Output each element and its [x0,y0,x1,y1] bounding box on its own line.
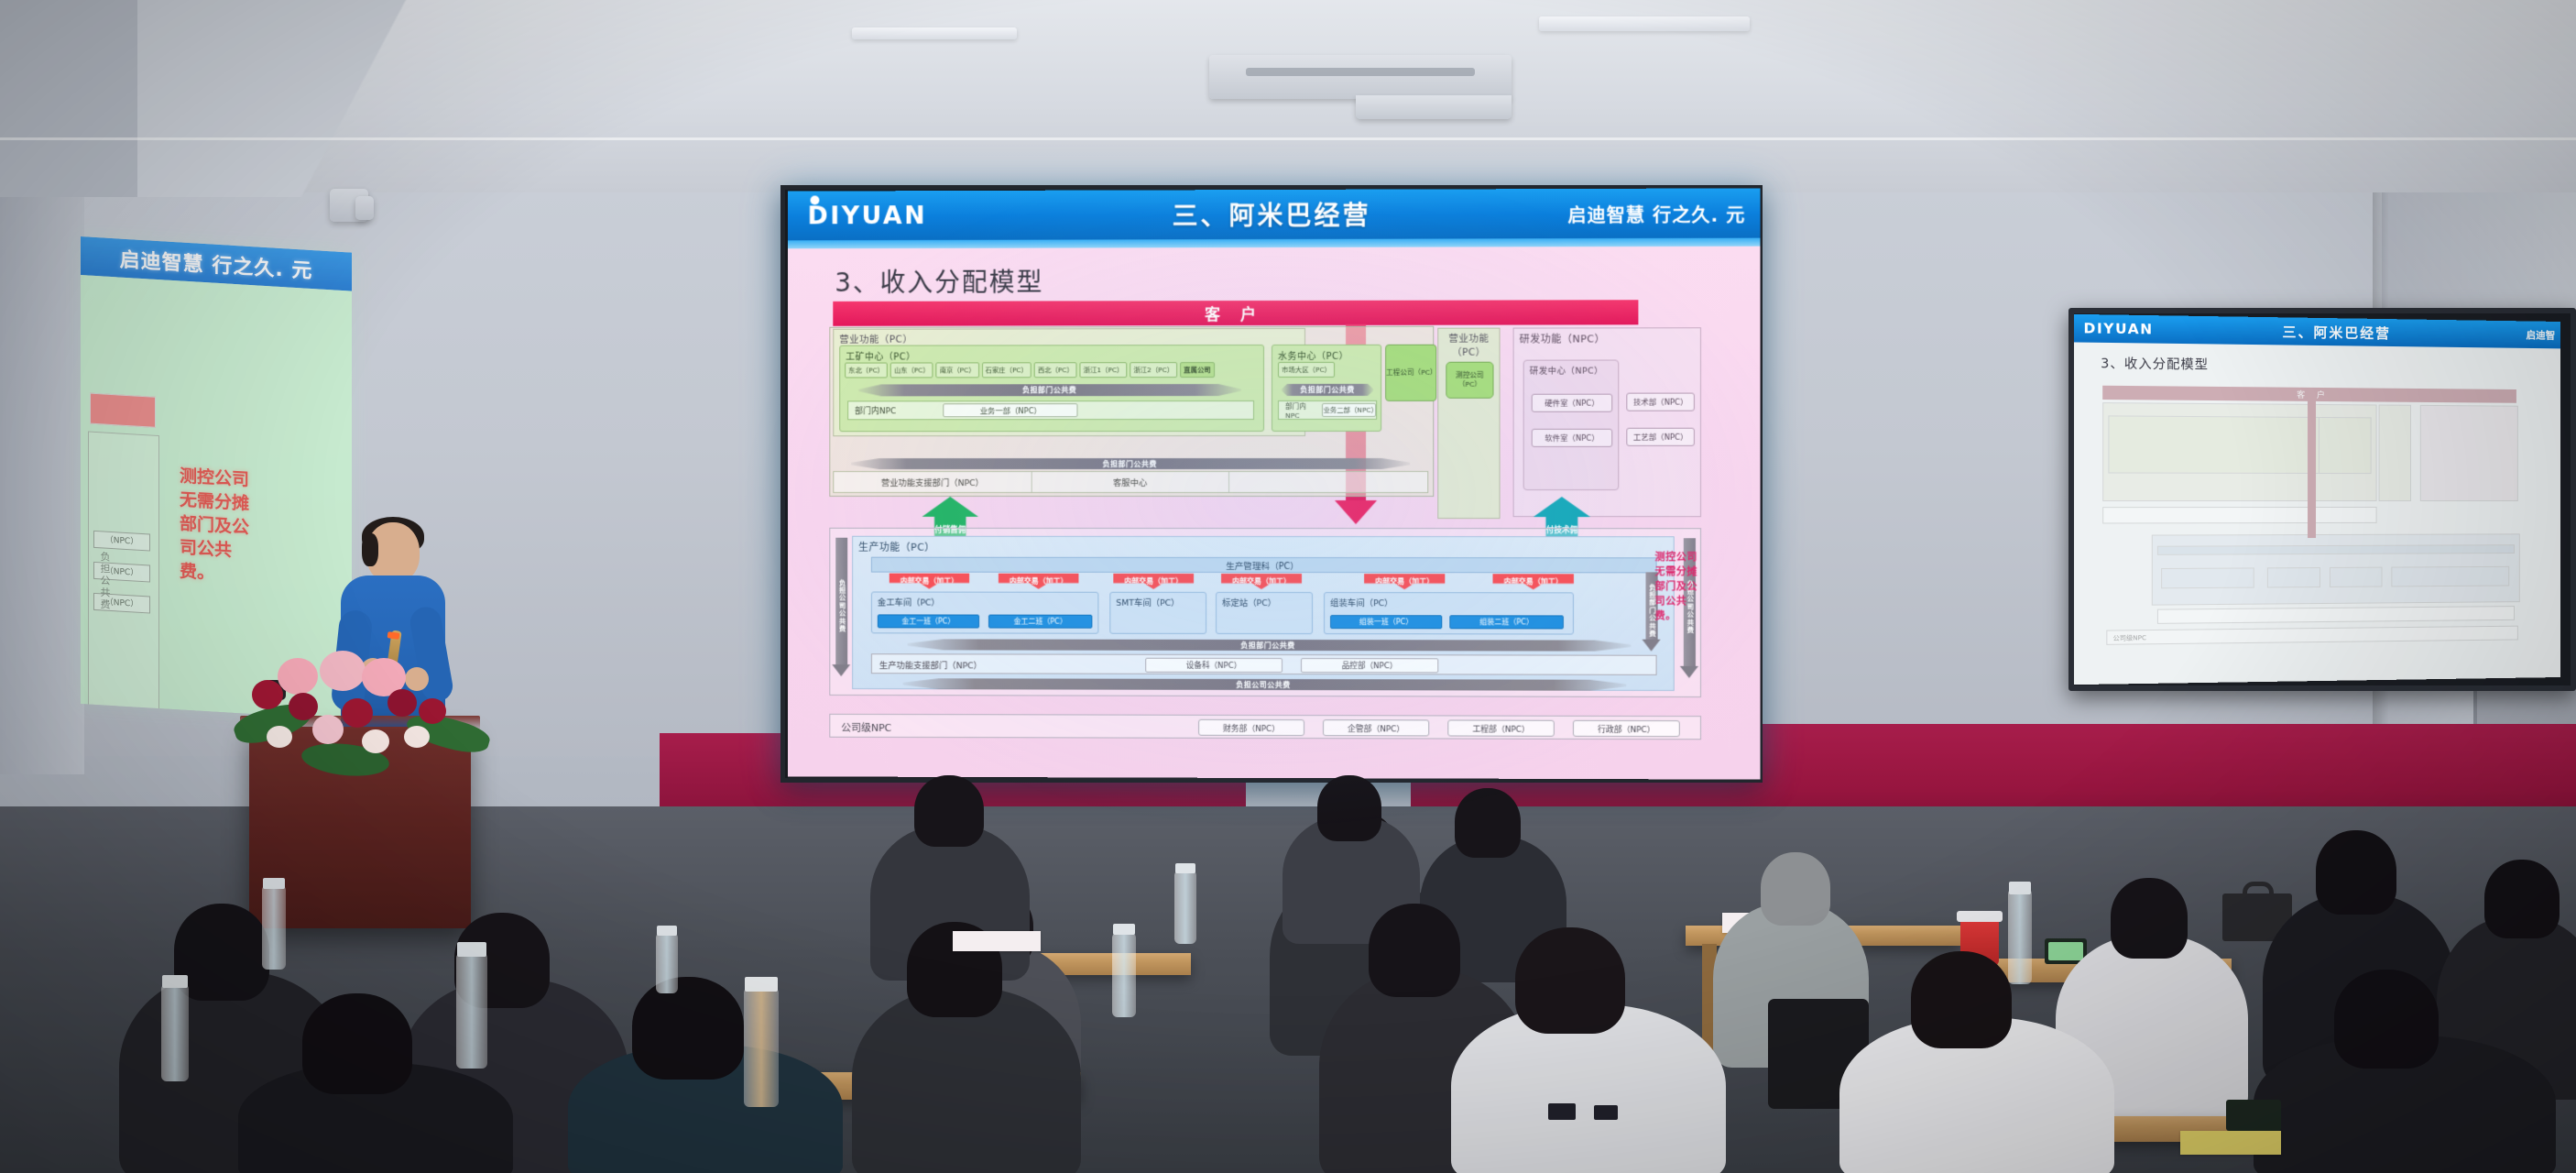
machining-workshop-label: 金工车间（PC） [872,593,1097,608]
bottle-cap [657,926,677,936]
side-mon-sales-right [2379,404,2411,500]
spill-red-box [90,393,156,428]
white-flower [267,726,292,748]
spill-tagline: 启迪智慧 行之久. 元 [120,244,313,285]
water-bottle [1112,933,1136,1017]
attendee-head [1317,775,1381,841]
rose-flower [387,689,417,717]
mining-unit-chip: 山东（PC） [890,362,933,378]
internal-trade-badge: 内部交易（加工） [1493,574,1574,589]
equipment-section: 设备科（NPC） [1145,658,1283,673]
water-npc-row: 部门内NPC 业务二部（NPC） [1278,400,1377,420]
assembly-workshop: 组装车间（PC） 组装一班（PC） 组装二班（PC） [1324,592,1574,634]
finance-dept: 财务部（NPC） [1198,719,1304,736]
sales-function-block: 营业功能（PC） 工矿中心（PC） 东北（PC） 山东（PC） 南京（PC） 石… [833,328,1305,436]
sales-function-right-block: 营业功能（PC） 测控公司（PC） [1437,328,1500,519]
side-mon-prod-support [2157,606,2515,624]
attendee-head [1455,788,1521,858]
rose-flower [289,693,318,720]
mining-unit-chip: 南京（PC） [936,362,979,378]
engineering-company-block: 工程公司（PC） [1385,345,1436,401]
attendee-head [2111,878,2188,959]
white-flower [404,726,430,748]
assembly-team-1: 组装一班（PC） [1330,615,1442,629]
company-level-npc-label: 公司级NPC [841,720,891,735]
side-monitor-title: 三、阿米巴经营 [2282,322,2390,343]
phone-screen[interactable] [2048,942,2083,960]
internal-trade-badge: 内部交易（加工） [999,574,1079,589]
handout-paper [953,931,1041,951]
rd-software-room: 软件室（NPC） [1532,429,1613,447]
rd-center-label: 研发中心（NPC） [1524,361,1619,377]
spill-chip-1: （NPC） [93,531,150,552]
attendee-head [1369,904,1460,997]
mining-unit-chip: 浙江2（PC） [1130,362,1177,378]
rd-function-block: 研发功能（NPC） 研发中心（NPC） 硬件室（NPC） 软件室（NPC） 技术… [1513,327,1701,517]
side-monitor-diagram: 客 户 公司级NPC [2095,386,2552,645]
mining-unit-chip: 东北（PC） [845,363,888,378]
sales-support-row: 营业功能支援部门（NPC） 客服中心 [833,471,1428,493]
burden-corp-vertical-left: 负担公司公共费 [835,538,847,665]
side-mon-mining [2108,415,2341,474]
water-bottle [1174,871,1196,944]
slide-note-text: 测控公司无需分摊部门及公司公共费。 [1655,550,1703,623]
pink-rose [312,715,344,744]
attendee-head [2316,830,2396,915]
side-monitor-screen: DIYUAN 三、阿米巴经营 启迪智 3、收入分配模型 客 户 [2074,314,2560,685]
shirt-logo-icon-2 [1594,1105,1618,1120]
water-bottle [744,988,779,1107]
side-mon-shop-4 [2391,566,2509,587]
attendee-head [302,993,412,1094]
production-wrapper: 负担公司公共费 生产功能（PC） 生产管理科（PC） 内部交易（加工） 内部交易… [829,528,1701,697]
side-mon-shop-3 [2330,567,2383,587]
attendee-head [1515,927,1625,1034]
assembly-team-2: 组装二班（PC） [1449,615,1564,629]
mining-center-label: 工矿中心（PC） [840,345,1263,363]
administration-dept: 行政部（NPC） [1573,720,1680,737]
burden-dept-bar-sales: 负担部门公共费 [851,458,1410,469]
company-level-npc-row: 公司级NPC 财务部（NPC） 企管部（NPC） 工程部（NPC） 行政部（NP… [829,714,1701,740]
slide-header: DIYUAN 三、阿米巴经营 启迪智慧 行之久. 元 [788,188,1761,240]
rose-flower [342,698,373,728]
internal-trade-badge: 内部交易（加工） [1113,574,1194,589]
bottle-cap [162,975,188,988]
sticky-note [2180,1131,2281,1155]
rd-function-label: 研发功能（NPC） [1514,328,1700,345]
smartphone[interactable] [2226,1100,2281,1131]
attendee-head [2484,860,2560,938]
attendee-head [914,775,984,847]
handbag-handle [2243,882,2274,898]
mining-npc-row: 部门内NPC 业务一部（NPC） [847,400,1254,420]
air-conditioner-body [1356,95,1512,119]
production-function-label: 生产功能（PC） [853,537,1674,555]
water-bottle [2008,889,2032,984]
water-unit-chip: 市场大区（PC） [1278,362,1335,378]
rd-tech-dept: 技术部（NPC） [1626,393,1695,411]
side-mon-rd [2420,405,2518,501]
attendee-head [1761,852,1830,926]
rose-flower [419,698,446,724]
rd-process-dept: 工艺部（NPC） [1626,428,1695,446]
customer-bar: 客 户 [833,300,1638,326]
business-unit-1-pill: 业务一部（NPC） [944,403,1078,417]
revenue-distribution-diagram: 客 户 销售货款 营业功能（PC） 工矿中心（PC） 东北（PC） 山东（PC） [824,300,1732,769]
white-flower [362,729,389,753]
bottle-cap [263,878,285,889]
lily-flower [320,651,366,691]
attendee-head [2334,970,2439,1069]
diyuan-logo: DIYUAN [808,202,927,230]
attendee-head [632,977,744,1080]
sales-function-right-label: 营业功能（PC） [1438,329,1499,359]
bottle-cap [745,977,778,992]
slide-subtitle: 3、收入分配模型 [835,261,1760,300]
water-center-label: 水务中心（PC） [1272,345,1381,362]
customer-flow-arrow [1335,500,1377,524]
internal-trade-badge: 内部交易（加工） [1364,574,1445,589]
side-mon-corp-label: 公司级NPC [2107,627,2517,646]
mining-unit-chips: 东北（PC） 山东（PC） 南京（PC） 石家庄（PC） 西北（PC） 浙江1（… [845,362,1215,378]
internal-trade-badge: 内部交易（加工） [890,574,969,589]
calibration-station: 标定站（PC） [1216,592,1313,634]
side-mon-shop-1 [2161,567,2254,588]
left-wall-column [0,188,84,774]
machining-team-2: 金工二班（PC） [988,615,1092,629]
customer-service-center: 客服中心 [1032,472,1229,492]
presenter-hair-side [362,533,378,566]
side-mon-support [2102,507,2376,524]
spill-vertical-label: 负担公共费 [97,551,112,611]
ceiling-light-strip [1539,16,1750,31]
side-monitor-logo: DIYUAN [2083,320,2153,337]
calibration-station-label: 标定站（PC） [1217,593,1312,608]
production-support-dept-label: 生产功能支援部门（NPC） [879,658,982,671]
burden-dept-bar-production: 负担部门公共费 [908,639,1632,651]
water-center-block: 水务中心（PC） 市场大区（PC） 负担部门公共费 部门内NPC 业务二部（NP… [1272,345,1381,432]
slide-section-title: 三、阿米巴经营 [1173,196,1371,234]
rd-hardware-room: 硬件室（NPC） [1532,394,1613,412]
mining-unit-chip: 浙江1（PC） [1080,362,1128,378]
flower-arrangement [224,641,499,788]
water-bottle [656,933,678,993]
lily-flower [278,658,318,695]
production-management-dept: 生产管理科（PC） [871,557,1657,574]
sales-function-label: 营业功能（PC） [834,329,1304,346]
burden-dept-bar-mining: 负担部门公共费 [858,384,1241,396]
quality-control-dept: 品控部（NPC） [1301,658,1438,673]
water-bottle [161,984,189,1081]
smt-workshop-label: SMT车间（PC） [1110,593,1206,608]
business-unit-2-pill: 业务二部（NPC） [1322,403,1376,417]
side-monitor-tagline: 启迪智 [2527,327,2556,342]
burden-corp-bar-production: 负担公司公共费 [903,678,1627,691]
ceiling-seam [0,137,2576,140]
cup-lid [1957,911,2003,922]
machining-workshop: 金工车间（PC） 金工一班（PC） 金工二班（PC） [871,592,1098,634]
bottle-cap [2009,882,2031,894]
mining-direct-company-chip: 直属公司 [1180,362,1215,378]
bottle-cap [1175,863,1195,873]
slide-tagline: 启迪智慧 行之久. 元 [1567,200,1745,227]
sales-support-empty [1229,472,1427,492]
mining-unit-chip: 石家庄（PC） [982,362,1031,378]
mining-unit-chip: 西北（PC） [1034,362,1077,378]
burden-dept-bar-water: 负担部门公共费 [1282,384,1373,396]
engineering-dept: 工程部（NPC） [1447,719,1555,736]
led-wall-display[interactable]: DIYUAN 三、阿米巴经营 启迪智慧 行之久. 元 3、收入分配模型 客 户 … [780,185,1763,783]
bottle-cap [457,942,486,957]
dept-internal-npc-label: 部门内NPC [848,404,896,416]
bottle-cap [1113,924,1135,935]
water-bottle [262,885,286,970]
logo-rest: IYUAN [830,202,927,230]
ac-grille [1246,68,1475,76]
side-mon-corp-row: 公司级NPC [2106,626,2518,645]
slide-screen: DIYUAN 三、阿米巴经营 启迪智慧 行之久. 元 3、收入分配模型 客 户 … [788,188,1761,779]
sales-support-dept: 营业功能支援部门（NPC） [834,472,1031,492]
assembly-workshop-label: 组装车间（PC） [1325,593,1573,608]
water-dept-npc-label: 部门内NPC [1279,400,1319,419]
rd-center-block: 研发中心（NPC） 硬件室（NPC） 软件室（NPC） [1523,360,1620,491]
rose-flower [252,680,283,709]
side-mon-shop-2 [2267,567,2320,587]
side-monitor-body: 3、收入分配模型 客 户 公司 [2074,342,2560,685]
water-unit-chips: 市场大区（PC） [1278,362,1335,378]
wall-speaker-bracket [355,196,374,220]
side-monitor-subtitle: 3、收入分配模型 [2101,354,2560,378]
ceiling-light-strip-2 [852,27,1017,39]
production-function-block: 生产功能（PC） 生产管理科（PC） 内部交易（加工） 内部交易（加工） 内部交… [852,536,1675,691]
measurement-control-company: 测控公司（PC） [1446,362,1493,399]
production-support-row: 生产功能支援部门（NPC） 设备科（NPC） 品控部（NPC） [871,653,1657,675]
shirt-logo-icon [1548,1103,1576,1120]
water-bottle [456,953,487,1069]
ceiling-soffit-left-inner [137,0,614,197]
enterprise-mgmt-dept: 企管部（NPC） [1323,719,1429,736]
side-monitor[interactable]: DIYUAN 三、阿米巴经营 启迪智 3、收入分配模型 客 户 [2068,308,2576,691]
air-conditioner-vent [1209,55,1512,99]
mining-center-block: 工矿中心（PC） 东北（PC） 山东（PC） 南京（PC） 石家庄（PC） 西北… [839,345,1264,432]
spill-note-text: 测控公司无需分摊部门及公司公共费。 [180,464,258,587]
internal-trade-badge: 内部交易（加工） [1221,574,1302,589]
side-mon-prod-mgmt [2157,544,2515,555]
slide-content: 3、收入分配模型 客 户 销售货款 营业功能（PC） 工矿中心（PC） [788,247,1761,780]
logo-initial: D [808,202,831,230]
attendee-head [1911,951,2012,1048]
conference-room-scene: 启迪智慧 行之久. 元 （NPC） （NPC） （NPC） 负担公共费 测控公司… [0,0,2576,1173]
smt-workshop: SMT车间（PC） [1109,592,1206,634]
side-mon-customer-stem [2308,400,2316,538]
side-mon-water [2319,417,2372,474]
machining-team-1: 金工一班（PC） [878,614,979,628]
